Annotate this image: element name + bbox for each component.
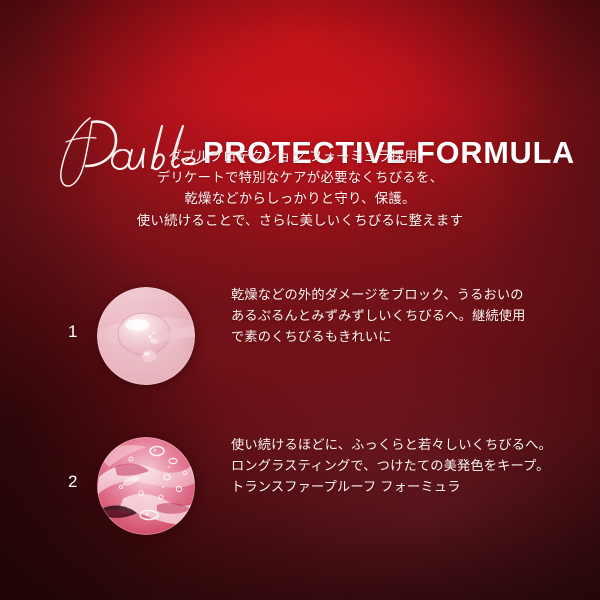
feature-text-1: 乾燥などの外的ダメージをブロック、うるおいの あるぷるんとみずみずしいくちびるへ…	[231, 284, 583, 347]
feature-image-2	[97, 437, 195, 535]
intro-line-1: ダブルプロテクション フォーミュラ採用。	[0, 146, 600, 167]
feature-number-2: 2	[60, 472, 86, 492]
promo-banner: PROTECTIVE FORMULA ダブルプロテクション フォーミュラ採用。 …	[0, 0, 600, 600]
feature-1-line-2: あるぷるんとみずみずしいくちびるへ。継続使用	[231, 305, 583, 326]
feature-row-1: 1	[0, 286, 600, 386]
feature-image-1	[97, 287, 195, 385]
feature-2-line-2: ロングラスティングで、つけたての美発色をキープ。	[231, 455, 583, 476]
intro-line-3: 乾燥などからしっかりと守り、保護。	[0, 188, 600, 209]
feature-1-line-1: 乾燥などの外的ダメージをブロック、うるおいの	[231, 284, 583, 305]
feature-1-line-3: で素のくちびるもきれいに	[231, 326, 583, 347]
feature-2-line-3: トランスファープルーフ フォーミュラ	[231, 476, 583, 497]
feature-2-line-1: 使い続けるほどに、ふっくらと若々しいくちびるへ。	[231, 434, 583, 455]
feature-text-2: 使い続けるほどに、ふっくらと若々しいくちびるへ。 ロングラスティングで、つけたて…	[231, 434, 583, 497]
feature-row-2: 2	[0, 436, 600, 536]
intro-paragraph: ダブルプロテクション フォーミュラ採用。 デリケートで特別なケアが必要なくちびる…	[0, 146, 600, 231]
intro-line-2: デリケートで特別なケアが必要なくちびるを、	[0, 167, 600, 188]
header: PROTECTIVE FORMULA	[0, 58, 600, 130]
feature-number-1: 1	[60, 322, 86, 342]
intro-line-4: 使い続けることで、さらに美しいくちびるに整えます	[0, 210, 600, 231]
